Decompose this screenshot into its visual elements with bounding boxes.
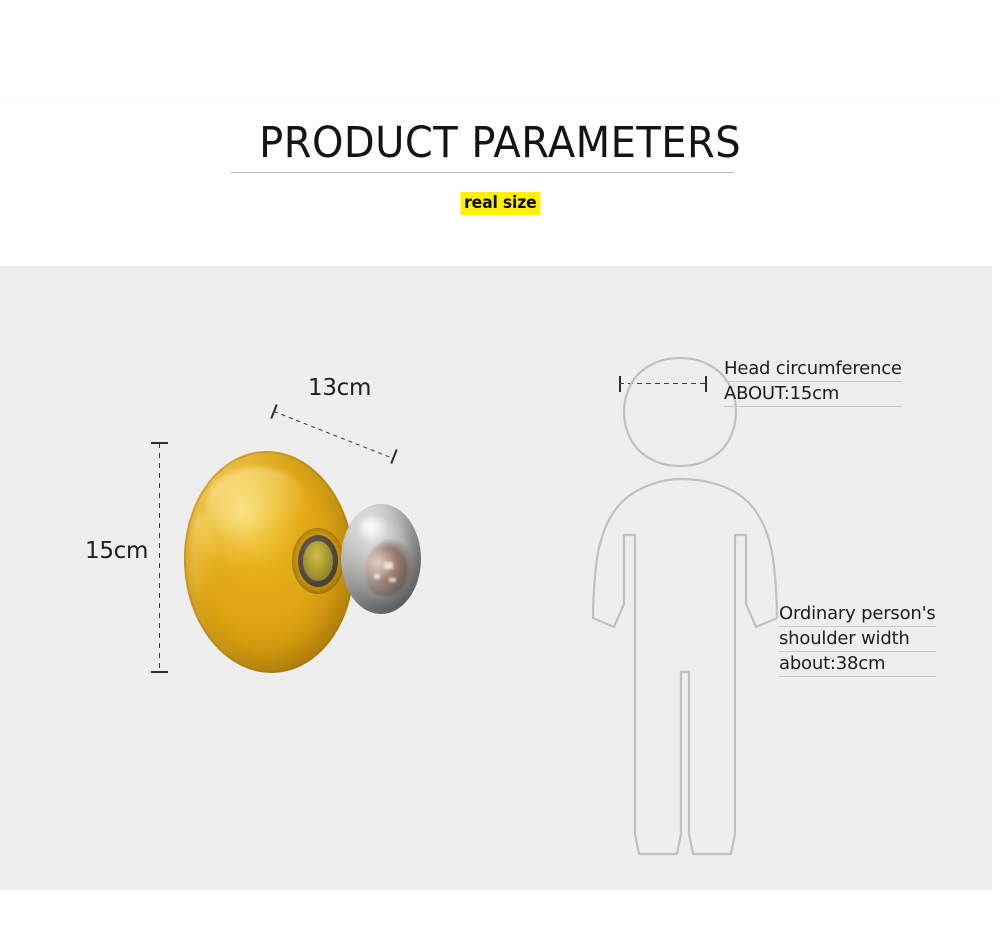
product-photo-area: 15cm 13cm — [0, 266, 500, 890]
title-underline-rule — [231, 172, 734, 173]
callout-shoulder-line-2: shoulder width — [779, 627, 936, 652]
lamp-socket-ring — [298, 535, 338, 587]
lamp-socket-core — [303, 541, 333, 581]
lamp-socket — [292, 528, 344, 594]
dimension-label-height: 15cm — [85, 538, 148, 564]
dimension-label-width: 13cm — [308, 375, 371, 401]
chrome-bulb — [341, 504, 421, 614]
page-title: PRODUCT PARAMETERS — [259, 118, 741, 168]
header: PRODUCT PARAMETERS real size — [0, 118, 1000, 168]
chrome-bulb-highlight — [359, 516, 388, 542]
subtitle-highlight: real size — [460, 192, 540, 215]
dimension-line-width: 13cm — [268, 407, 404, 467]
dimension-line-height — [159, 443, 160, 672]
product-parameters-infographic: PRODUCT PARAMETERS real size — [0, 0, 1000, 943]
dimension-cap-top — [151, 442, 168, 444]
chrome-bulb-reflection — [365, 548, 407, 596]
callout-shoulder-line-3: about:38cm — [779, 652, 936, 677]
callout-head-line-2: ABOUT:15cm — [724, 382, 902, 407]
dimension-line-width-dashes — [274, 411, 393, 459]
diagram-stage: 15cm 13cm — [0, 266, 992, 890]
scale-reference-area: Head circumference ABOUT:15cm Ordinary p… — [500, 266, 992, 890]
dimension-cap-bottom — [151, 671, 168, 673]
subtitle-row: real size — [0, 192, 1000, 215]
callout-shoulder-width: Ordinary person's shoulder width about:3… — [779, 602, 936, 677]
header-top-divider — [0, 103, 1000, 104]
callout-shoulder-line-1: Ordinary person's — [779, 602, 936, 627]
callout-head-circumference: Head circumference ABOUT:15cm — [724, 357, 902, 407]
callout-head-line-1: Head circumference — [724, 357, 902, 382]
human-silhouette-icon — [575, 342, 785, 887]
